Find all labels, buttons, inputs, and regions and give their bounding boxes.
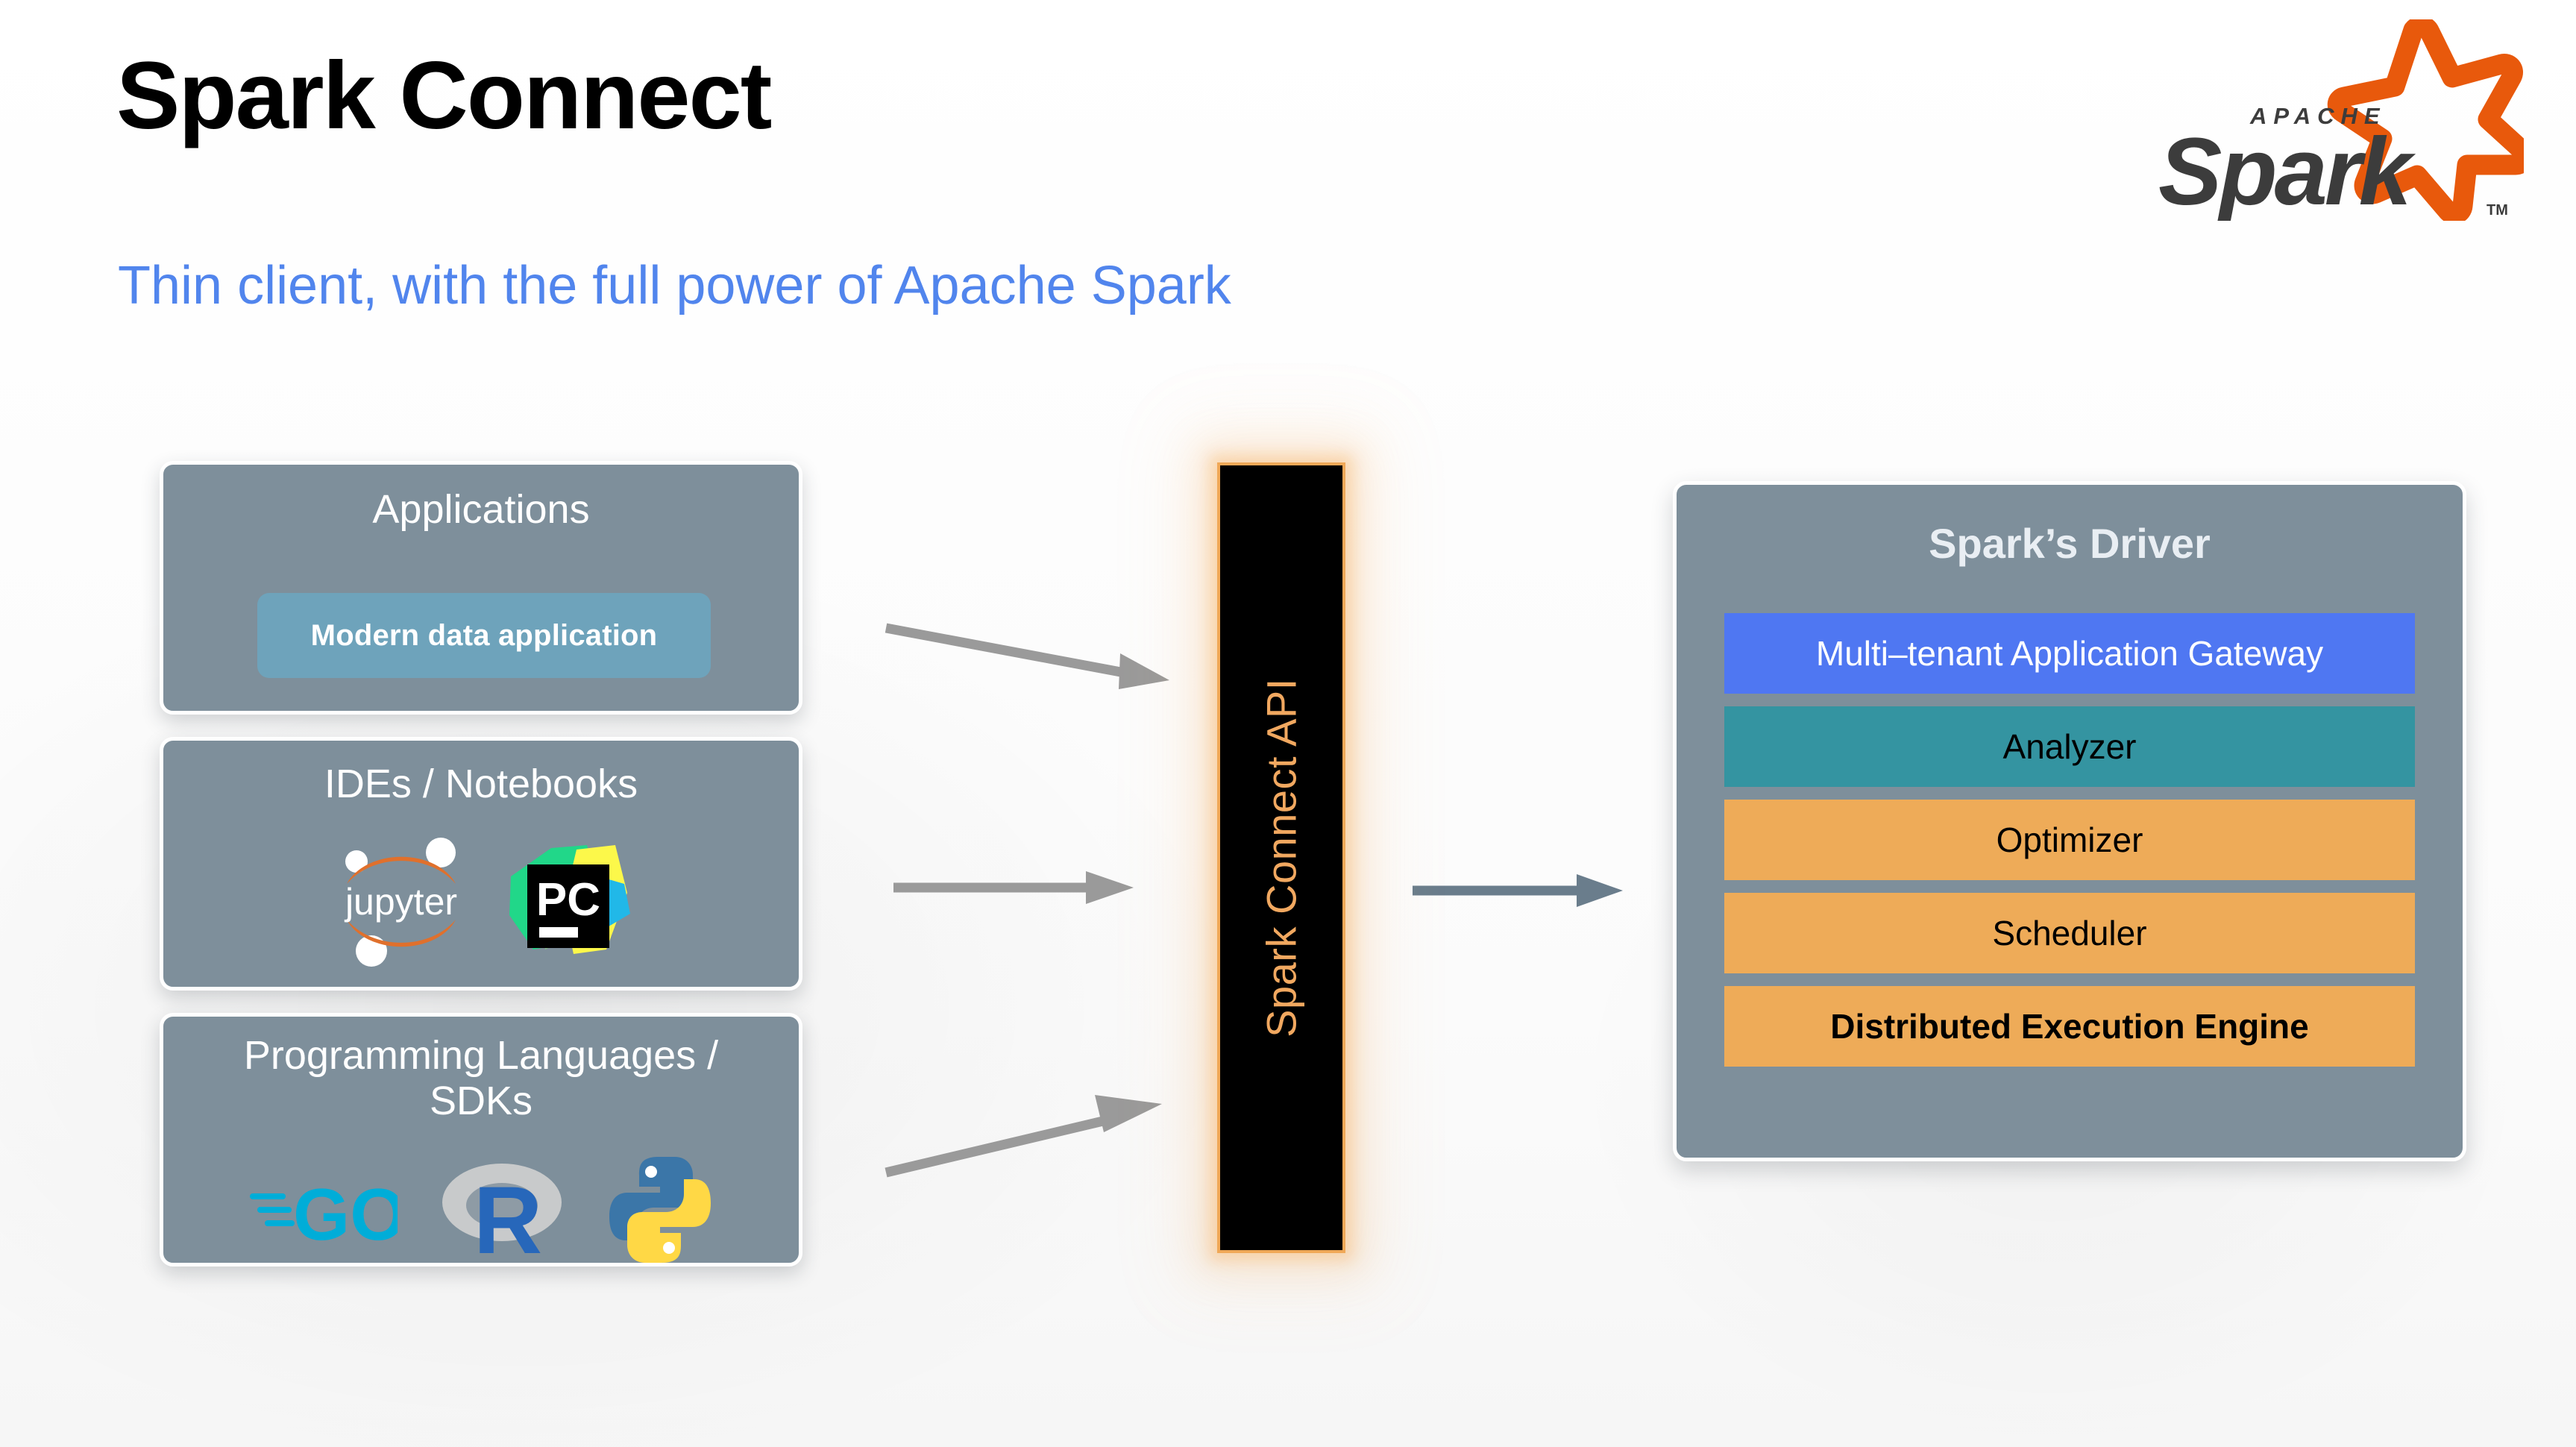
jupyter-logo: jupyter — [330, 836, 472, 971]
r-logo: R — [439, 1161, 565, 1263]
spark-connect-api-bar[interactable]: Spark Connect API — [1217, 462, 1345, 1253]
python-eye-top — [645, 1166, 657, 1178]
go-speed-lines — [250, 1193, 295, 1226]
ide-logo-row: jupyter PC — [163, 836, 799, 970]
pycharm-underscore — [539, 927, 578, 938]
driver-row-analyzer[interactable]: Analyzer — [1724, 706, 2415, 787]
python-eye-bottom — [663, 1242, 675, 1254]
logo-trademark-text: TM — [2487, 202, 2508, 219]
client-card-ides-notebooks[interactable]: IDEs / Notebooks jupyter PC — [160, 737, 802, 991]
r-wordmark: R — [474, 1167, 542, 1259]
pycharm-wordmark: PC — [536, 874, 600, 926]
apache-spark-logo: APACHE Spark TM — [2151, 19, 2524, 221]
language-logo-row: GO R — [163, 1155, 799, 1267]
card-title-ides-notebooks: IDEs / Notebooks — [163, 762, 799, 807]
driver-row-optimizer[interactable]: Optimizer — [1724, 800, 2415, 880]
page-title: Spark Connect — [116, 46, 770, 146]
spark-connect-api-label: Spark Connect API — [1257, 678, 1306, 1038]
client-card-applications[interactable]: Applications Modern data application — [160, 461, 802, 715]
jupyter-wordmark: jupyter — [344, 881, 457, 923]
card-title-line2: SDKs — [430, 1079, 533, 1123]
client-card-programming-languages[interactable]: Programming Languages / SDKs GO R — [160, 1013, 802, 1266]
card-title-applications: Applications — [163, 487, 799, 533]
arrow-languages-to-api — [880, 1074, 1193, 1193]
driver-row-distributed-execution-engine[interactable]: Distributed Execution Engine — [1724, 986, 2415, 1067]
card-title-line1: Programming Languages / — [244, 1033, 718, 1078]
modern-data-application-chip[interactable]: Modern data application — [257, 593, 711, 678]
arrow-applications-to-api — [880, 612, 1193, 723]
logo-wordmark-text: Spark — [2158, 119, 2416, 221]
driver-row-multi-tenant-gateway[interactable]: Multi–tenant Application Gateway — [1724, 613, 2415, 694]
card-title-programming-languages: Programming Languages / SDKs — [163, 1033, 799, 1124]
page-subtitle: Thin client, with the full power of Apac… — [118, 254, 1231, 318]
pycharm-logo: PC — [505, 838, 632, 970]
python-logo — [606, 1155, 714, 1268]
go-wordmark: GO — [293, 1173, 398, 1255]
driver-row-scheduler[interactable]: Scheduler — [1724, 893, 2415, 973]
spark-driver-panel[interactable]: Spark’s Driver Multi–tenant Application … — [1673, 481, 2466, 1161]
go-logo: GO — [248, 1165, 398, 1258]
arrow-api-to-driver — [1408, 856, 1647, 923]
arrow-ides-to-api — [888, 850, 1186, 925]
spark-driver-row-list: Multi–tenant Application Gateway Analyze… — [1724, 613, 2415, 1067]
spark-driver-title: Spark’s Driver — [1677, 521, 2463, 567]
